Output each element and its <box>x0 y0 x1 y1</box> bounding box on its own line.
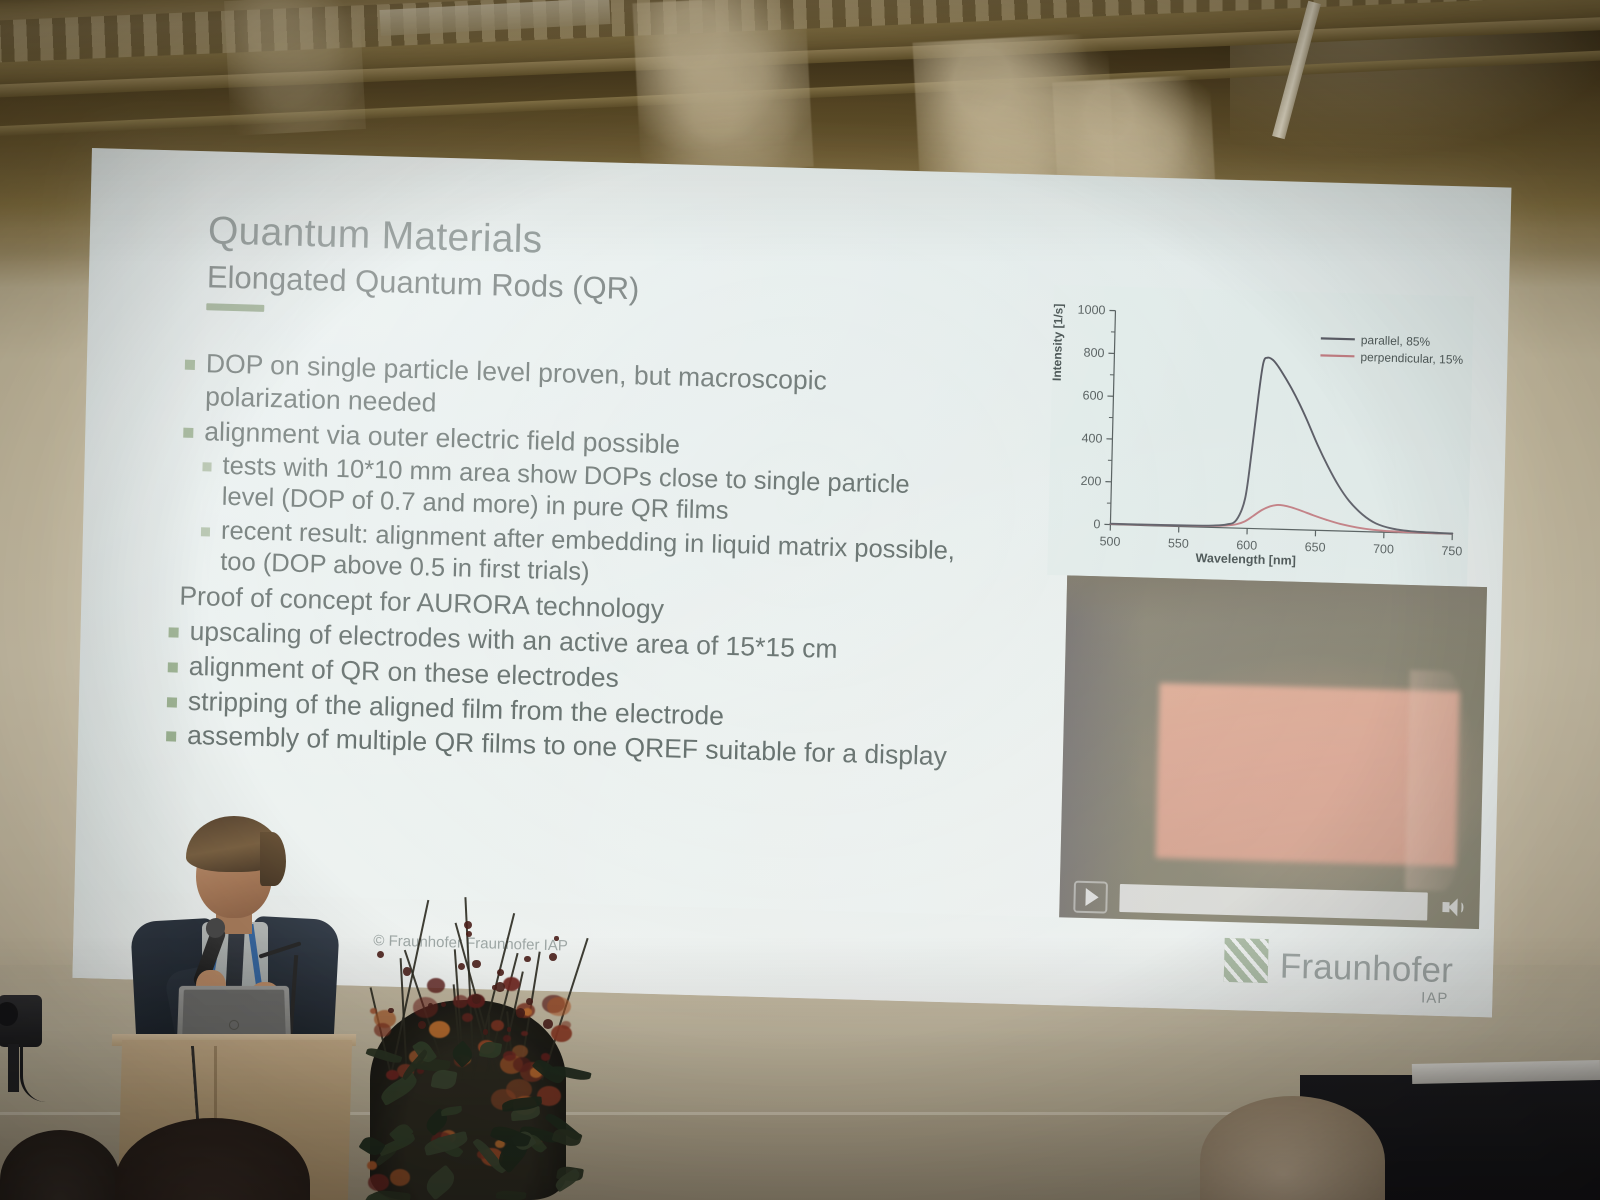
chart-svg: 02004006008001000500550600650700750paral… <box>1047 285 1474 587</box>
flower-blossom <box>503 977 520 991</box>
svg-text:650: 650 <box>1305 540 1326 555</box>
flower-blossom <box>453 995 469 1008</box>
volume-cone <box>1448 898 1457 916</box>
play-icon[interactable] <box>1073 881 1108 914</box>
page-subtitle: Elongated Quantum Rods (QR) <box>207 259 640 307</box>
svg-text:400: 400 <box>1081 431 1102 446</box>
camera-tripod <box>8 1044 19 1092</box>
flower-berry <box>543 1019 553 1029</box>
flower-berry <box>495 982 505 992</box>
flower-berry <box>441 1002 446 1007</box>
flower-arrangement <box>352 880 582 1200</box>
flower-blossom <box>429 1021 450 1038</box>
flower-berry <box>492 985 496 989</box>
flower-berry <box>466 931 472 937</box>
flower-berry <box>483 1029 488 1034</box>
flower-berry <box>458 963 465 970</box>
bullet-list: DOP on single particle level proven, but… <box>166 346 965 775</box>
chart-plot-area: Intensity [1/s] Wavelength [nm] 02004006… <box>1047 285 1474 587</box>
flower-berry <box>554 936 558 940</box>
svg-text:parallel, 85%: parallel, 85% <box>1361 333 1431 349</box>
page-title: Quantum Materials <box>208 209 543 262</box>
svg-text:600: 600 <box>1082 388 1103 403</box>
svg-text:800: 800 <box>1083 346 1104 361</box>
flower-blossom <box>374 1023 391 1037</box>
flower-berry <box>526 998 533 1005</box>
chart-x-axis-label: Wavelength [nm] <box>1195 551 1296 568</box>
play-triangle <box>1085 888 1098 906</box>
fraunhofer-institute-label: IAP <box>1421 989 1449 1007</box>
volume-icon[interactable] <box>1439 894 1466 921</box>
screenshot-root: Quantum Materials Elongated Quantum Rods… <box>0 0 1600 1200</box>
flower-blossom <box>368 1174 388 1191</box>
flower-blossom <box>462 1013 473 1022</box>
chart-y-axis-label: Intensity [1/s] <box>1050 303 1066 381</box>
svg-text:500: 500 <box>1099 534 1120 549</box>
flower-blossom <box>491 1020 504 1031</box>
fraunhofer-logo-icon <box>1223 938 1268 983</box>
flower-blossom <box>547 997 571 1017</box>
flower-berry <box>497 969 504 976</box>
flower-berry <box>377 951 385 959</box>
embedded-video-player[interactable] <box>1059 575 1487 935</box>
svg-text:600: 600 <box>1236 538 1257 553</box>
flower-berry <box>472 960 480 968</box>
flower-berry <box>403 967 412 976</box>
title-accent-rule <box>206 303 264 312</box>
svg-text:550: 550 <box>1168 536 1189 551</box>
fraunhofer-logo: Fraunhofer <box>1223 938 1453 988</box>
stucco-ornament <box>224 0 366 136</box>
volume-wave <box>1458 902 1463 912</box>
flower-berry <box>507 1027 511 1031</box>
video-progress-bar[interactable] <box>1119 884 1428 921</box>
stucco-ornament <box>632 0 813 176</box>
video-edge-highlight <box>1405 670 1470 892</box>
svg-text:200: 200 <box>1080 474 1101 489</box>
flower-berry <box>472 994 481 1003</box>
flower-blossom <box>413 997 438 1017</box>
presenter-hair-side <box>260 832 286 886</box>
flower-berry <box>464 921 472 929</box>
table-paper <box>1412 1060 1600 1084</box>
flower-berry <box>388 1008 393 1013</box>
svg-text:750: 750 <box>1441 544 1462 559</box>
svg-text:perpendicular, 15%: perpendicular, 15% <box>1360 350 1463 367</box>
emission-spectrum-chart: Intensity [1/s] Wavelength [nm] 02004006… <box>1047 285 1474 587</box>
flower-blossom <box>521 1031 528 1037</box>
flower-berry <box>549 953 557 961</box>
laptop-logo <box>229 1020 239 1030</box>
flower-berry <box>516 1008 525 1017</box>
svg-text:1000: 1000 <box>1077 303 1105 318</box>
svg-text:700: 700 <box>1373 542 1394 557</box>
flower-berry <box>524 956 531 963</box>
flower-blossom <box>427 978 446 993</box>
laptop-screen <box>182 990 286 1037</box>
svg-text:0: 0 <box>1093 517 1100 531</box>
fraunhofer-logo-text: Fraunhofer <box>1279 948 1453 988</box>
flower-blossom <box>370 1008 377 1014</box>
